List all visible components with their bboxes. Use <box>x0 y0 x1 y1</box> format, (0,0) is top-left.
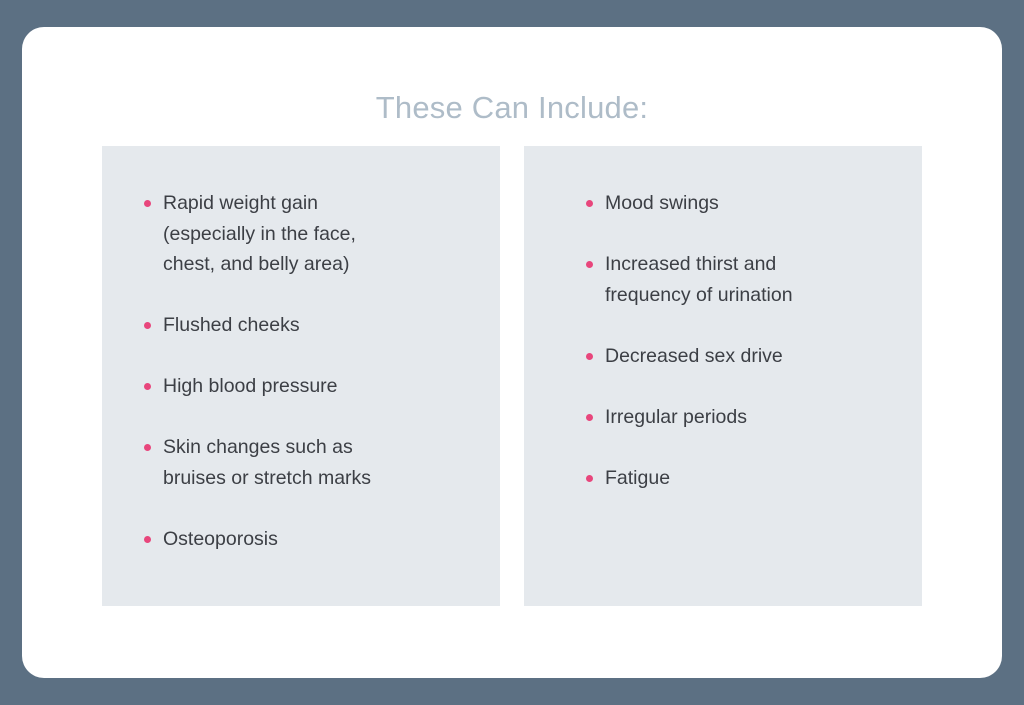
list-item: High blood pressure <box>144 371 482 402</box>
list-item-label: Osteoporosis <box>163 524 482 555</box>
list-item: Skin changes such as bruises or stretch … <box>144 432 482 493</box>
slide-card: These Can Include: Rapid weight gain (es… <box>22 27 1002 678</box>
bullet-icon <box>586 353 593 360</box>
symptom-panel-left: Rapid weight gain (especially in the fac… <box>102 146 500 606</box>
list-item: Mood swings <box>586 188 904 219</box>
bullet-icon <box>586 414 593 421</box>
bullet-icon <box>586 475 593 482</box>
page-title: These Can Include: <box>22 90 1002 126</box>
list-item-label: Mood swings <box>605 188 904 219</box>
bullet-icon <box>144 444 151 451</box>
panels-container: Rapid weight gain (especially in the fac… <box>102 146 922 606</box>
list-item-label: Increased thirst and frequency of urinat… <box>605 249 904 310</box>
bullet-icon <box>144 383 151 390</box>
list-item-label: Irregular periods <box>605 402 904 433</box>
bullet-icon <box>144 200 151 207</box>
list-item: Flushed cheeks <box>144 310 482 341</box>
list-item: Rapid weight gain (especially in the fac… <box>144 188 482 280</box>
list-item-label: Skin changes such as bruises or stretch … <box>163 432 482 493</box>
list-item: Osteoporosis <box>144 524 482 555</box>
bullet-icon <box>586 200 593 207</box>
list-item-label: Decreased sex drive <box>605 341 904 372</box>
list-item-label: High blood pressure <box>163 371 482 402</box>
list-item-label: Flushed cheeks <box>163 310 482 341</box>
list-item: Fatigue <box>586 463 904 494</box>
bullet-icon <box>586 261 593 268</box>
bullet-icon <box>144 322 151 329</box>
symptom-panel-right: Mood swings Increased thirst and frequen… <box>524 146 922 606</box>
list-item: Irregular periods <box>586 402 904 433</box>
bullet-icon <box>144 536 151 543</box>
list-item: Increased thirst and frequency of urinat… <box>586 249 904 310</box>
symptom-list-left: Rapid weight gain (especially in the fac… <box>102 146 500 554</box>
list-item-label: Fatigue <box>605 463 904 494</box>
list-item-label: Rapid weight gain (especially in the fac… <box>163 188 482 280</box>
symptom-list-right: Mood swings Increased thirst and frequen… <box>524 146 922 493</box>
list-item: Decreased sex drive <box>586 341 904 372</box>
